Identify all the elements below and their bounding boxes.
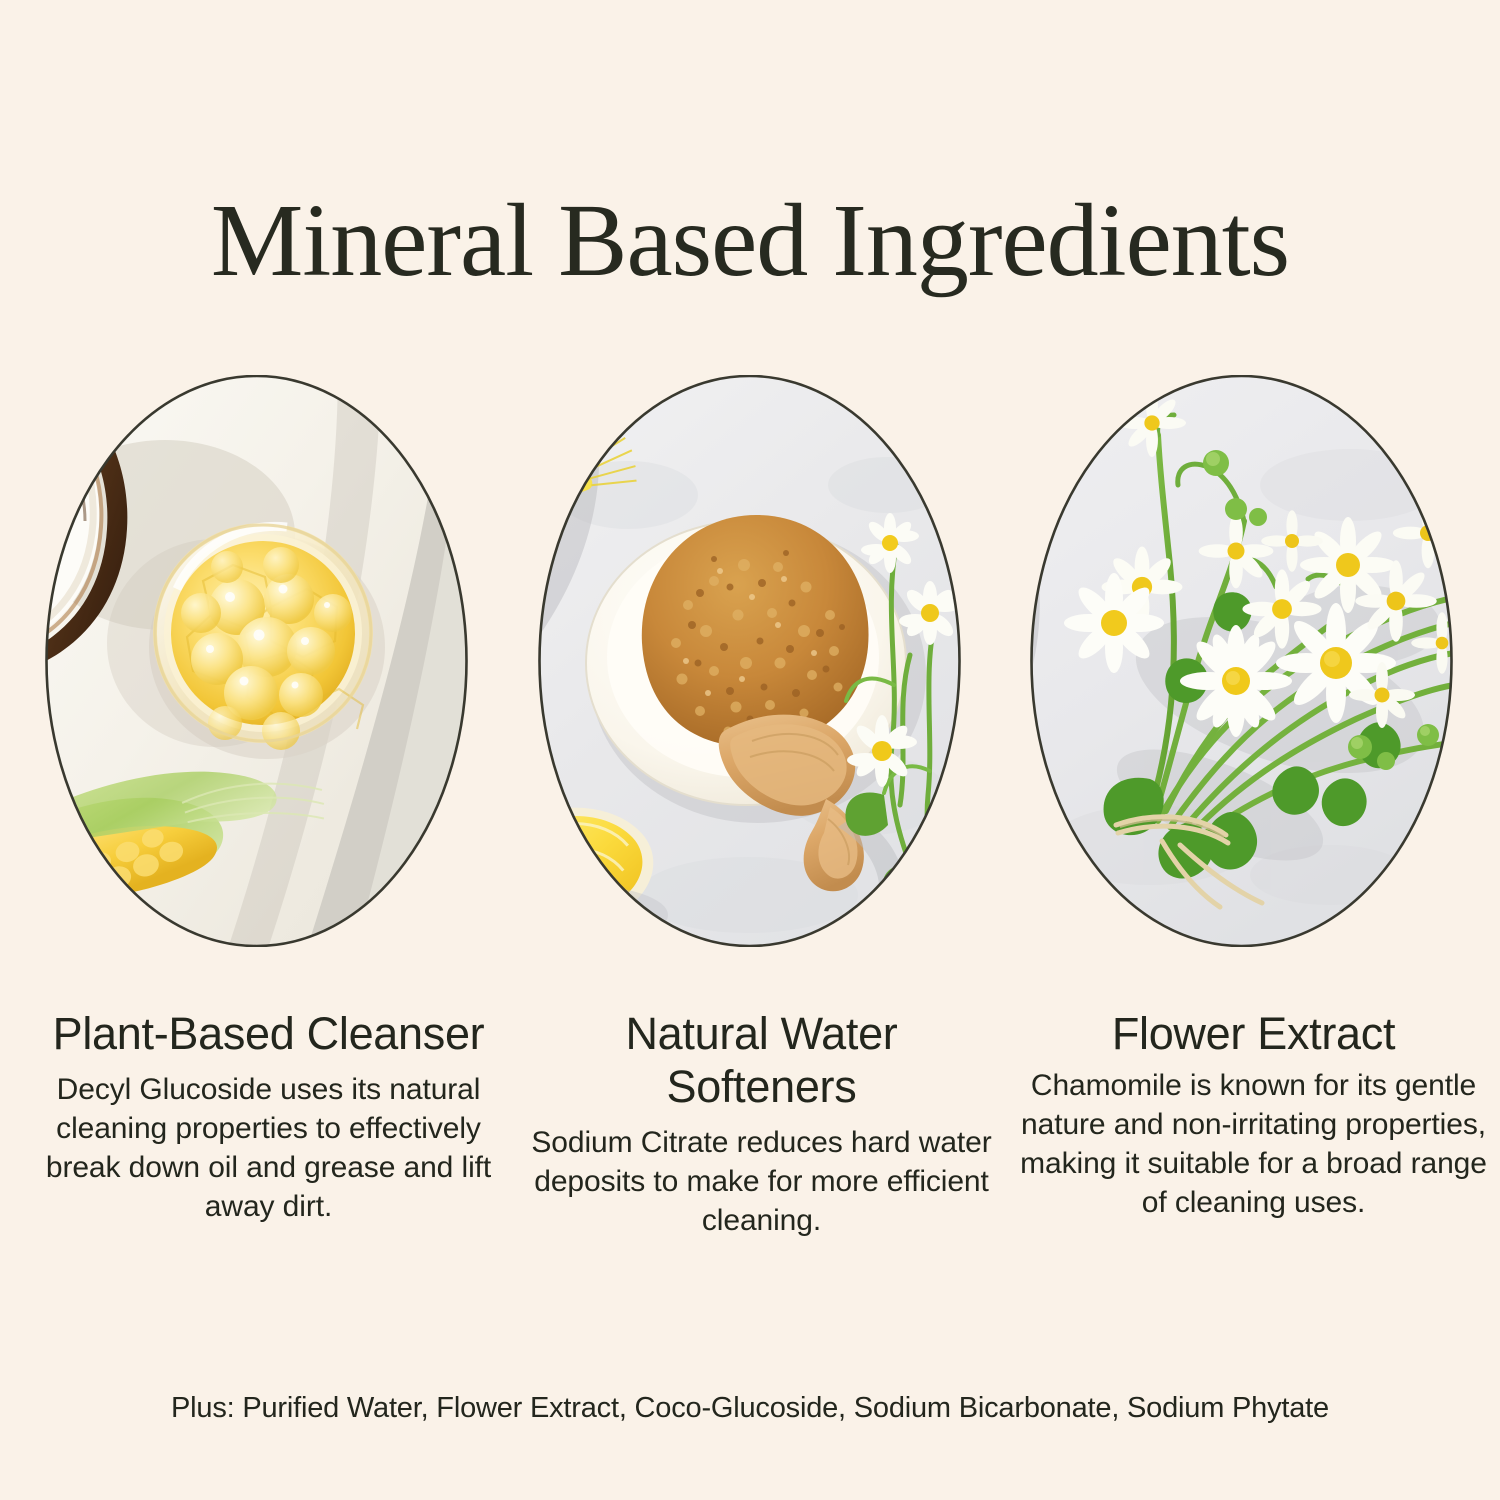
ingredient-column-plant-based-cleanser: Plant-Based Cleanser Decyl Glucoside use… [22,0,515,1500]
plant-based-cleanser-photo [45,375,468,947]
ingredient-columns: Plant-Based Cleanser Decyl Glucoside use… [0,0,1500,1500]
caption-body: Chamomile is known for its gentle nature… [1017,1066,1490,1222]
caption-heading: Natural Water Softeners [525,1007,998,1113]
flower-extract-photo [1030,375,1453,947]
plus-ingredients-line: Plus: Purified Water, Flower Extract, Co… [0,1392,1500,1425]
caption-plant-based-cleanser: Plant-Based Cleanser Decyl Glucoside use… [32,1007,505,1226]
ingredient-column-natural-water-softeners: Natural Water Softeners Sodium Citrate r… [515,0,1008,1500]
natural-water-softeners-photo [538,375,961,947]
caption-natural-water-softeners: Natural Water Softeners Sodium Citrate r… [525,1007,998,1240]
caption-heading: Flower Extract [1017,1007,1490,1060]
ingredient-column-flower-extract: Flower Extract Chamomile is known for it… [1007,0,1500,1500]
ingredients-infographic: Mineral Based Ingredients [0,0,1500,1500]
caption-heading: Plant-Based Cleanser [32,1007,505,1060]
caption-body: Decyl Glucoside uses its natural cleanin… [32,1070,505,1226]
caption-flower-extract: Flower Extract Chamomile is known for it… [1017,1007,1490,1222]
caption-body: Sodium Citrate reduces hard water deposi… [525,1123,998,1240]
